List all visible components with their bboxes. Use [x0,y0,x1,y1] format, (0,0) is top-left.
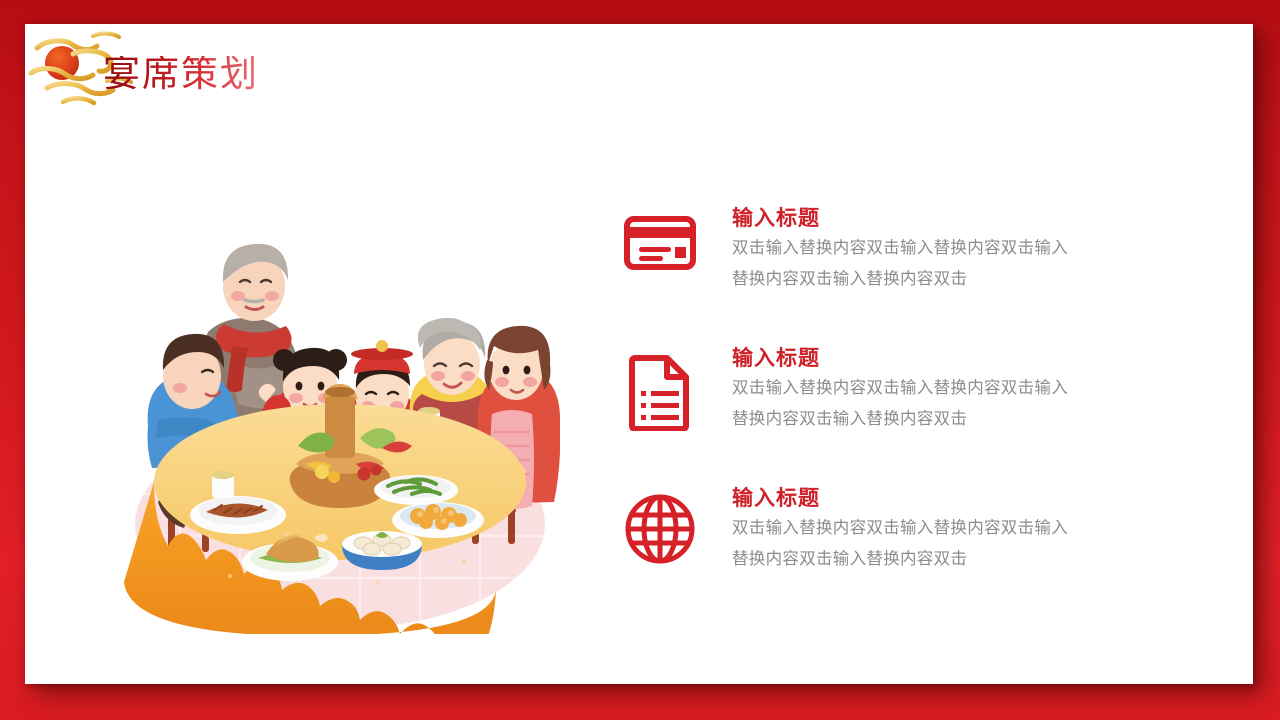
credit-card-icon[interactable] [610,199,710,273]
feature-text-3: 输入标题 双击输入替换内容双击输入替换内容双击输入 替换内容双击输入替换内容双击 [710,479,1210,574]
feature-body-1: 双击输入替换内容双击输入替换内容双击输入 替换内容双击输入替换内容双击 [732,233,1132,294]
feature-item-2[interactable]: 输入标题 双击输入替换内容双击输入替换内容双击输入 替换内容双击输入替换内容双击 [610,339,1210,479]
feature-text-2: 输入标题 双击输入替换内容双击输入替换内容双击输入 替换内容双击输入替换内容双击 [710,339,1210,434]
feature-title-1: 输入标题 [732,205,1210,231]
bowl-dumplings [342,531,422,570]
table-cup [212,471,234,498]
plate-green-beans [374,475,458,505]
slide-header: 宴席策划 [25,24,545,144]
feature-body-3: 双击输入替换内容双击输入替换内容双击输入 替换内容双击输入替换内容双击 [732,513,1132,574]
feature-body-2: 双击输入替换内容双击输入替换内容双击输入 替换内容双击输入替换内容双击 [732,373,1132,434]
feature-title-2: 输入标题 [732,345,1210,371]
feature-body-1-line2: 替换内容双击输入替换内容双击 [732,264,1132,295]
feature-body-3-line2: 替换内容双击输入替换内容双击 [732,544,1132,575]
slide-card: 宴席策划 [25,24,1253,684]
feature-item-1[interactable]: 输入标题 双击输入替换内容双击输入替换内容双击输入 替换内容双击输入替换内容双击 [610,199,1210,339]
feature-body-2-line2: 替换内容双击输入替换内容双击 [732,404,1132,435]
feature-text-1: 输入标题 双击输入替换内容双击输入替换内容双击输入 替换内容双击输入替换内容双击 [710,199,1210,294]
globe-icon[interactable] [610,479,710,565]
feature-body-2-line1: 双击输入替换内容双击输入替换内容双击输入 [732,378,1068,397]
feature-list: 输入标题 双击输入替换内容双击输入替换内容双击输入 替换内容双击输入替换内容双击 [610,199,1210,619]
family-reunion-dinner-illustration [120,164,560,634]
plate-roast-slices [190,496,286,534]
feature-body-3-line1: 双击输入替换内容双击输入替换内容双击输入 [732,518,1068,537]
feature-item-3[interactable]: 输入标题 双击输入替换内容双击输入替换内容双击输入 替换内容双击输入替换内容双击 [610,479,1210,619]
plate-fried-nuggets [392,502,484,538]
feature-body-1-line1: 双击输入替换内容双击输入替换内容双击输入 [732,238,1068,257]
document-list-icon[interactable] [610,339,710,431]
page-title: 宴席策划 [103,56,259,93]
feature-title-3: 输入标题 [732,485,1210,511]
